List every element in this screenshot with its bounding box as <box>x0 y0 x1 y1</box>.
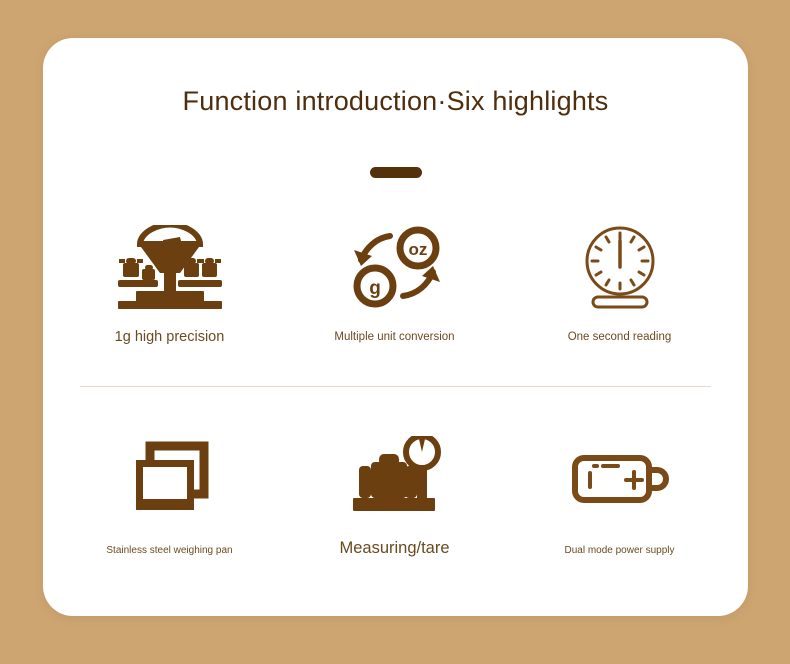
feature-label: Stainless steel weighing pan <box>53 545 286 556</box>
balance-scale-weights-icon <box>53 213 286 323</box>
feature-item-one-second-reading[interactable]: One second reading <box>503 213 736 343</box>
feature-item-stainless-steel-weighing-pan[interactable]: Stainless steel weighing pan <box>53 423 286 556</box>
svg-text:oz: oz <box>408 240 427 259</box>
feature-grid: 1g high precision <box>43 38 748 616</box>
feature-item-multiple-unit-conversion[interactable]: oz g Multiple unit conversion <box>278 213 511 343</box>
feature-card: Function introduction·Six highlights <box>43 38 748 616</box>
clock-dial-icon <box>503 213 736 323</box>
page-root: Function introduction·Six highlights <box>0 0 790 664</box>
feature-label: 1g high precision <box>53 329 286 345</box>
feature-label: Measuring/tare <box>278 539 511 558</box>
feature-label: Dual mode power supply <box>503 545 736 556</box>
stacked-weighing-pans-icon <box>53 423 286 533</box>
unit-conversion-g-oz-icon: oz g <box>278 213 511 323</box>
battery-icon <box>503 423 736 533</box>
feature-item-dual-mode-power-supply[interactable]: Dual mode power supply <box>503 423 736 556</box>
feature-label: One second reading <box>503 331 736 343</box>
feature-item-measuring-tare[interactable]: Measuring/tare <box>278 423 511 558</box>
luggage-platform-scale-icon <box>278 423 511 533</box>
svg-text:g: g <box>369 278 381 299</box>
feature-label: Multiple unit conversion <box>278 331 511 343</box>
feature-item-1g-high-precision[interactable]: 1g high precision <box>53 213 286 345</box>
